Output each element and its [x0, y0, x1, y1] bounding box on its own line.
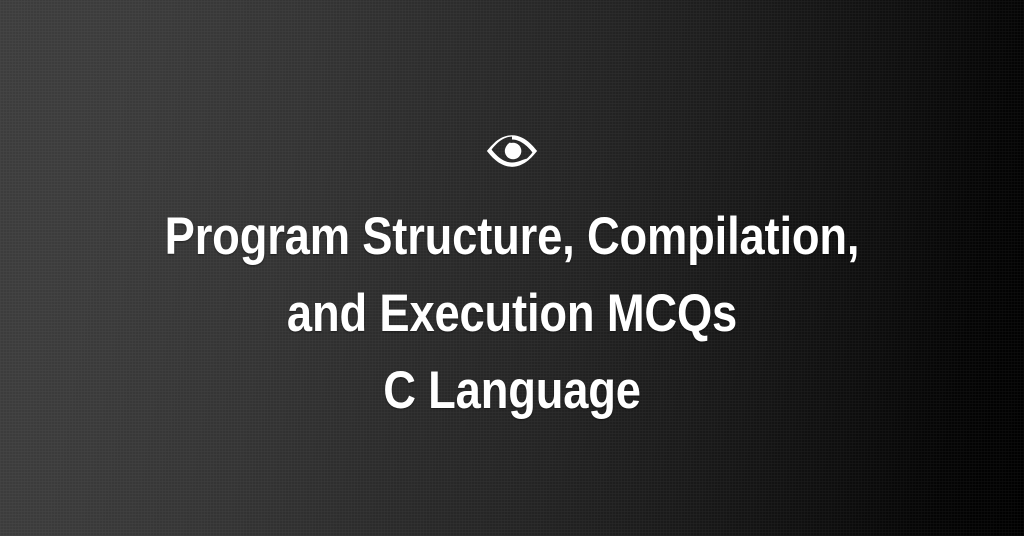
title-line-1: Program Structure, Compilation, — [74, 198, 950, 275]
page-title: Program Structure, Compilation, and Exec… — [0, 198, 1024, 429]
eye-icon — [480, 128, 544, 174]
featured-image-card: Program Structure, Compilation, and Exec… — [0, 0, 1024, 536]
title-line-3: C Language — [74, 352, 950, 429]
card-content: Program Structure, Compilation, and Exec… — [0, 0, 1024, 536]
title-line-2: and Execution MCQs — [74, 275, 950, 352]
